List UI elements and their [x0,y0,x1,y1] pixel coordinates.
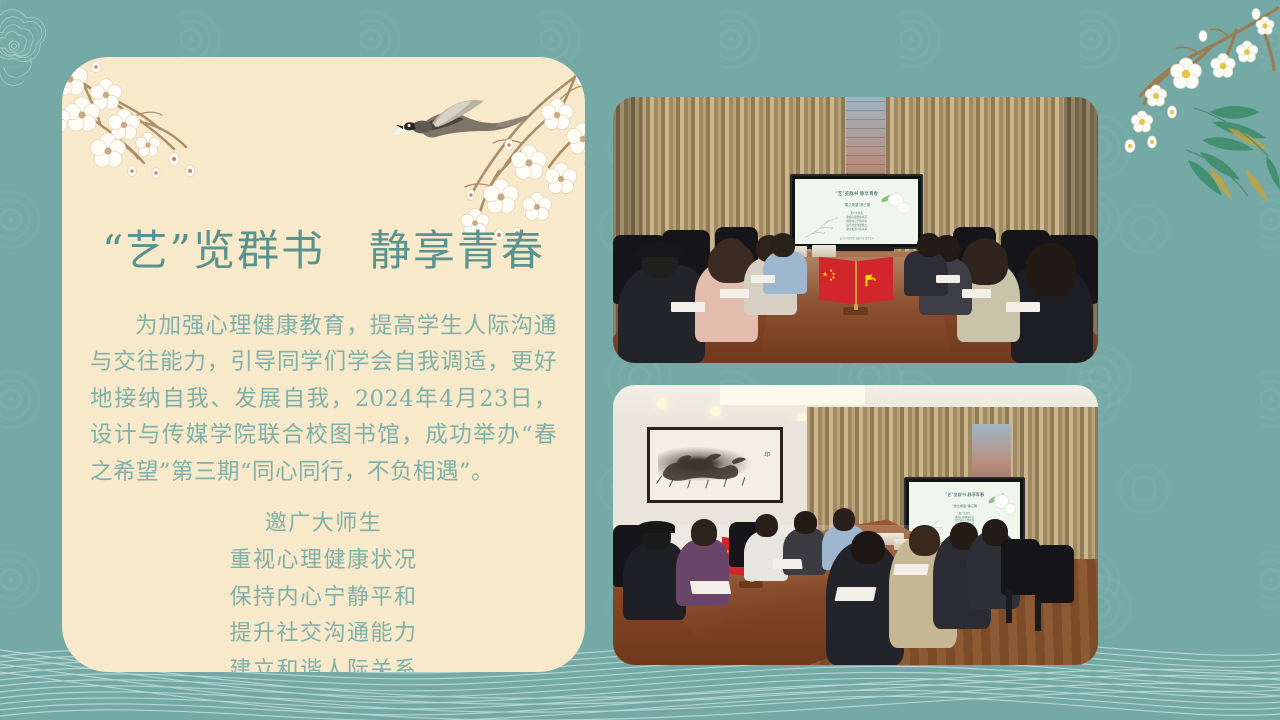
participant [676,539,729,606]
participant [744,531,788,581]
slogan-list: 邀广大师生 重视心理健康状况 保持内心宁静平和 提升社交沟通能力 建立和谐人际关… [62,506,585,672]
book-stack [812,245,836,257]
list-item: 建立和谐人际关系 [62,653,585,672]
participant [618,265,705,363]
svg-text:印: 印 [764,451,770,458]
card-paragraph: 为加强心理健康教育，提高学生人际沟通与交往能力，引导同学们学会自我调适，更好地接… [90,308,557,490]
cloud-ruyi-motif-icon [0,8,52,94]
meeting-room-scene: “艺”览群书 静享青春 “春之希望”第三期 邀广大师生 重视心理健康状况 保持内… [613,97,1098,363]
photo-meeting-wide: 印 “艺”览群书 静享青春 “春之希望”第三期 邀广大师生 重视心理健康状况 保… [613,385,1098,665]
list-item: 重视心理健康状况 [62,543,585,580]
info-card: “艺”览群书 静享青春 为加强心理健康教育，提高学生人际沟通与交往能力，引导同学… [62,57,585,672]
page-title: “艺”览群书 静享青春 [62,217,585,278]
meeting-room-scene: 印 “艺”览群书 静享青春 “春之希望”第三期 邀广大师生 重视心理健康状况 保… [613,385,1098,665]
photo-meeting-front: “艺”览群书 静享青春 “春之希望”第三期 邀广大师生 重视心理健康状况 保持内… [613,97,1098,363]
participant [904,251,948,296]
presentation-screen: “艺”览群书 静享青春 “春之希望”第三期 邀广大师生 重视心理健康状况 保持内… [790,174,923,248]
wall-art-horses: 印 [647,427,783,503]
list-item: 提升社交沟通能力 [62,616,585,653]
party-flag [857,257,893,304]
flying-bird-icon [392,93,532,155]
list-item: 邀广大师生 [62,506,585,543]
list-item: 保持内心宁静平和 [62,580,585,617]
participant [763,251,807,294]
national-flag [819,257,855,304]
